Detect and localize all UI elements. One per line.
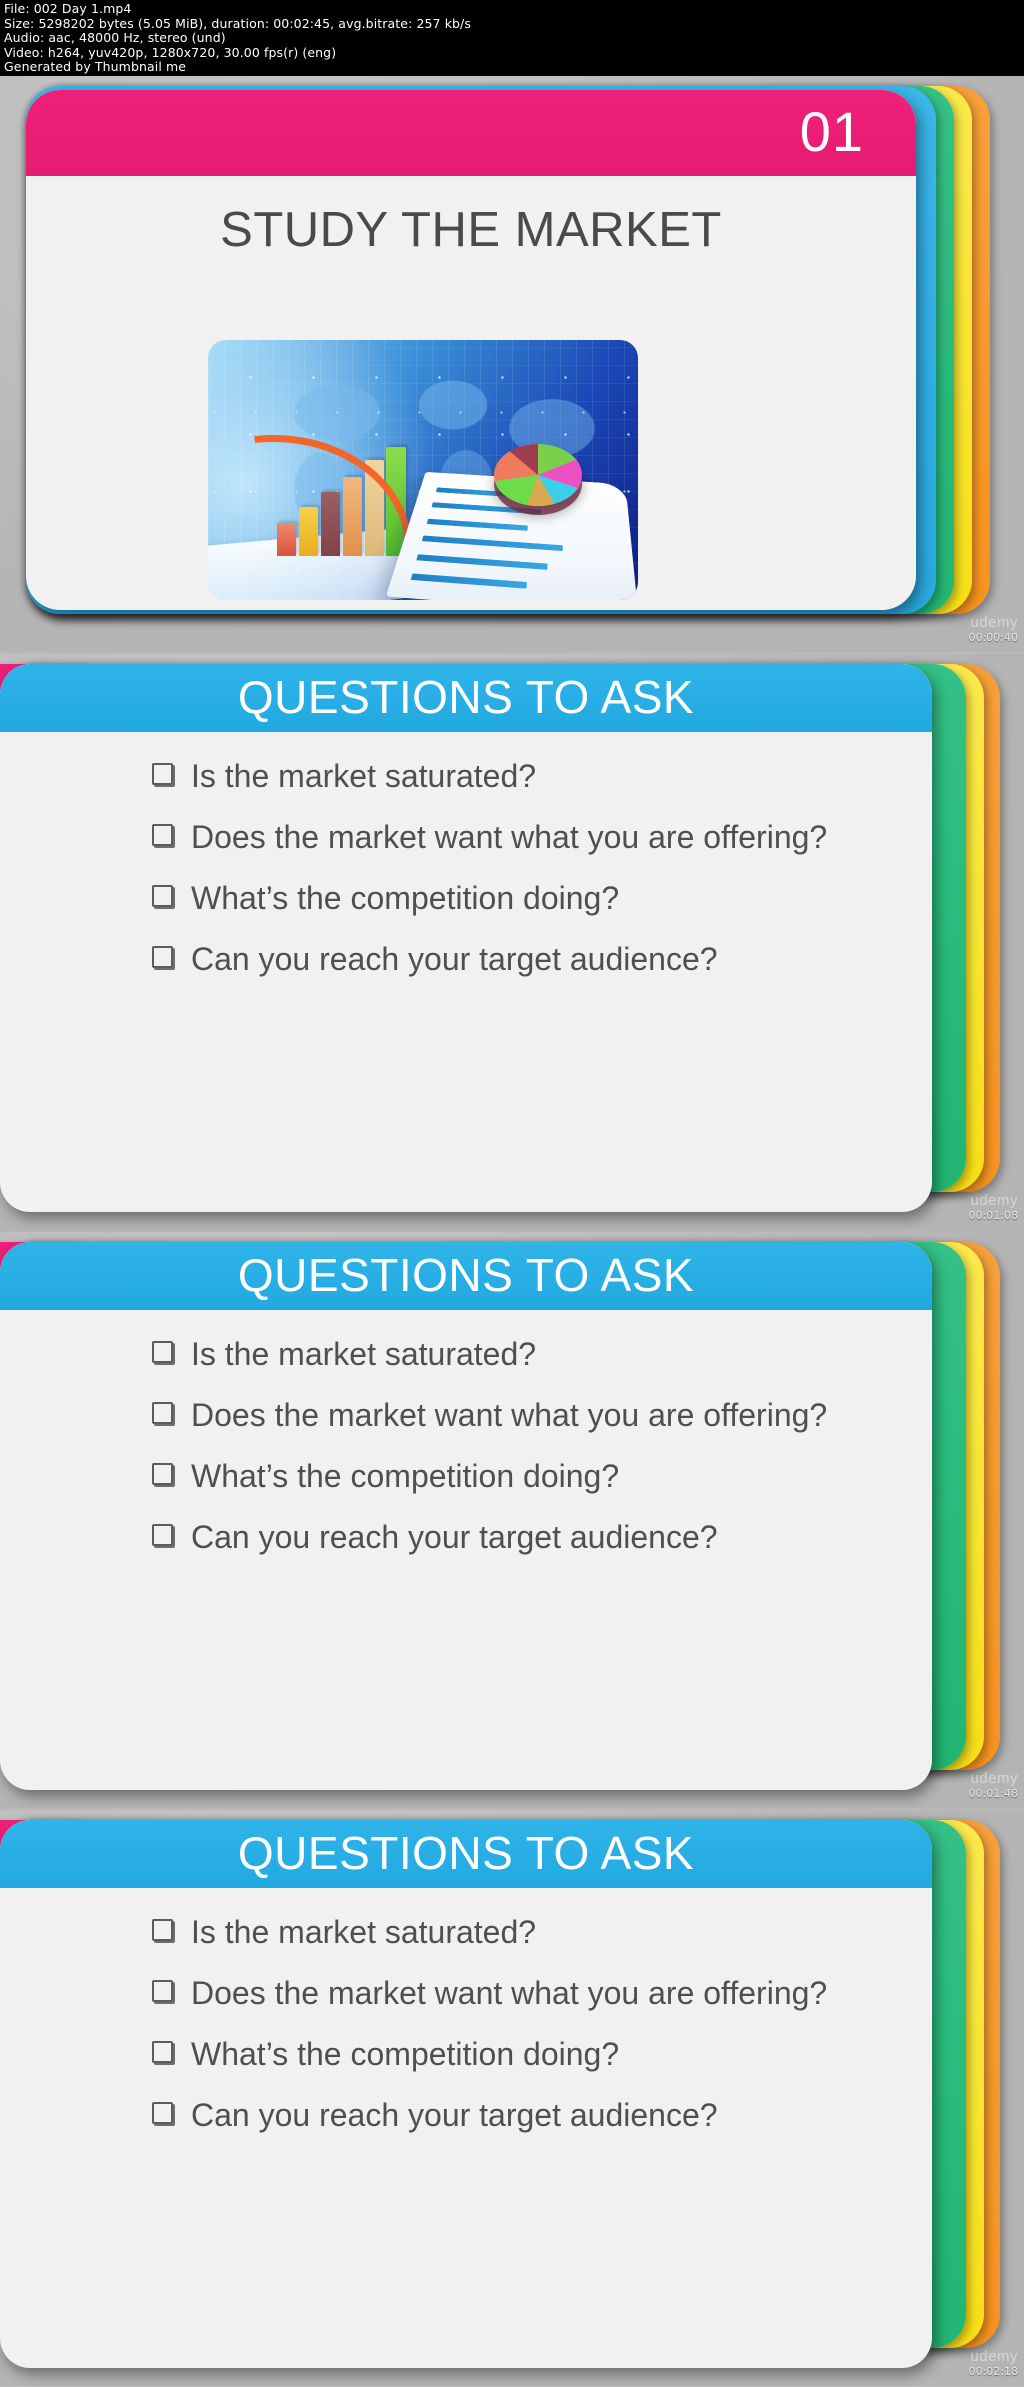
- checkbox-bullet-icon: [152, 1402, 173, 1424]
- list-item-label: What’s the competition doing?: [191, 2034, 619, 2075]
- questions-list-3: Is the market saturated? Does the market…: [152, 1334, 892, 1578]
- slide-card-3[interactable]: QUESTIONS TO ASK Is the market saturated…: [0, 1242, 932, 1790]
- list-item[interactable]: Does the market want what you are offeri…: [152, 1395, 892, 1436]
- list-item[interactable]: Is the market saturated?: [152, 1912, 892, 1953]
- list-item[interactable]: Does the market want what you are offeri…: [152, 817, 892, 858]
- info-generator: Generated by Thumbnail me: [4, 60, 1020, 75]
- checkbox-bullet-icon: [152, 1919, 173, 1941]
- list-item-label: Can you reach your target audience?: [191, 939, 718, 980]
- slide-number-badge: 01: [800, 104, 916, 162]
- paper-bar-4: [421, 536, 562, 552]
- list-item[interactable]: Does the market want what you are offeri…: [152, 1973, 892, 2014]
- list-item[interactable]: Can you reach your target audience?: [152, 939, 892, 980]
- info-audio: Audio: aac, 48000 Hz, stereo (und): [4, 31, 1020, 46]
- list-item[interactable]: Is the market saturated?: [152, 756, 892, 797]
- info-file-name: File: 002 Day 1.mp4: [4, 2, 1020, 17]
- list-item-label: What’s the competition doing?: [191, 1456, 619, 1497]
- slide-card-2[interactable]: QUESTIONS TO ASK Is the market saturated…: [0, 664, 932, 1212]
- list-item[interactable]: Is the market saturated?: [152, 1334, 892, 1375]
- checkbox-bullet-icon: [152, 1341, 173, 1363]
- paper-bar-3: [426, 519, 527, 531]
- checkbox-bullet-icon: [152, 1980, 173, 2002]
- checkbox-bullet-icon: [152, 885, 173, 907]
- list-item-label: What’s the competition doing?: [191, 878, 619, 919]
- slide-3-header: QUESTIONS TO ASK: [0, 1242, 932, 1310]
- list-item-label: Is the market saturated?: [191, 756, 536, 797]
- slide-4-header: QUESTIONS TO ASK: [0, 1820, 932, 1888]
- media-info-header: File: 002 Day 1.mp4 Size: 5298202 bytes …: [0, 0, 1024, 76]
- list-item[interactable]: Can you reach your target audience?: [152, 1517, 892, 1558]
- pie-chart-3d: [494, 444, 582, 506]
- paper-bar-6: [410, 574, 527, 589]
- thumbnail-slide-2[interactable]: QUESTIONS TO ASK Is the market saturated…: [0, 654, 1024, 1230]
- questions-list-2: Is the market saturated? Does the market…: [152, 756, 892, 1000]
- list-item[interactable]: Can you reach your target audience?: [152, 2095, 892, 2136]
- list-item-label: Does the market want what you are offeri…: [191, 817, 827, 858]
- paper-bar-5: [416, 555, 547, 571]
- list-item-label: Is the market saturated?: [191, 1334, 536, 1375]
- list-item-label: Does the market want what you are offeri…: [191, 1395, 827, 1436]
- slide-2-title: QUESTIONS TO ASK: [238, 674, 694, 723]
- list-item[interactable]: What’s the competition doing?: [152, 1456, 892, 1497]
- checkbox-bullet-icon: [152, 763, 173, 785]
- slide-2-header: QUESTIONS TO ASK: [0, 664, 932, 732]
- info-size-duration: Size: 5298202 bytes (5.05 MiB), duration…: [4, 17, 1020, 32]
- list-item-label: Does the market want what you are offeri…: [191, 1973, 827, 2014]
- thumbnail-slide-1[interactable]: 01 STUDY THE MARKET: [0, 76, 1024, 652]
- checkbox-bullet-icon: [152, 1524, 173, 1546]
- slide-4-title: QUESTIONS TO ASK: [238, 1830, 694, 1879]
- thumbnail-slide-3[interactable]: QUESTIONS TO ASK Is the market saturated…: [0, 1232, 1024, 1808]
- list-item-label: Can you reach your target audience?: [191, 1517, 718, 1558]
- slide-card-1[interactable]: 01 STUDY THE MARKET: [26, 90, 916, 610]
- list-item[interactable]: What’s the competition doing?: [152, 2034, 892, 2075]
- list-item-label: Can you reach your target audience?: [191, 2095, 718, 2136]
- checkbox-bullet-icon: [152, 824, 173, 846]
- checkbox-bullet-icon: [152, 2041, 173, 2063]
- slide-card-4[interactable]: QUESTIONS TO ASK Is the market saturated…: [0, 1820, 932, 2368]
- slide-1-title: STUDY THE MARKET: [26, 202, 916, 258]
- thumbnail-grid: 01 STUDY THE MARKET: [0, 76, 1024, 2387]
- thumbnail-slide-4[interactable]: QUESTIONS TO ASK Is the market saturated…: [0, 1810, 1024, 2386]
- business-chart-image: [208, 340, 638, 600]
- list-item-label: Is the market saturated?: [191, 1912, 536, 1953]
- slide-1-header: 01: [26, 90, 916, 176]
- checkbox-bullet-icon: [152, 1463, 173, 1485]
- list-item[interactable]: What’s the competition doing?: [152, 878, 892, 919]
- slide-3-title: QUESTIONS TO ASK: [238, 1252, 694, 1301]
- info-video: Video: h264, yuv420p, 1280x720, 30.00 fp…: [4, 46, 1020, 61]
- checkbox-bullet-icon: [152, 946, 173, 968]
- checkbox-bullet-icon: [152, 2102, 173, 2124]
- thumbnail-contact-sheet: File: 002 Day 1.mp4 Size: 5298202 bytes …: [0, 0, 1024, 2387]
- questions-list-4: Is the market saturated? Does the market…: [152, 1912, 892, 2156]
